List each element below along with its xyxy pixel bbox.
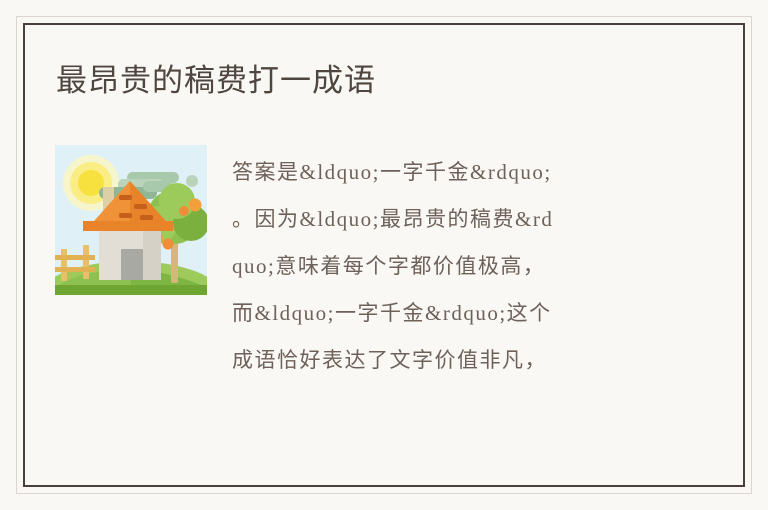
fence-rail-top: [55, 255, 95, 260]
fence-post-left: [61, 249, 67, 281]
roof-tile-2: [134, 204, 147, 209]
roof-tile-1: [119, 195, 132, 200]
answer-line: 而&ldquo;一字千金&rdquo;这个: [232, 290, 662, 337]
tree-fruit-lower: [163, 239, 174, 250]
answer-line: 成语恰好表达了文字价值非凡，: [232, 337, 662, 384]
tree-fruit-right: [179, 206, 189, 216]
page-root: 最昂贵的稿费打一成语: [0, 0, 768, 510]
answer-line: 答案是&ldquo;一字千金&rdquo;: [232, 149, 662, 196]
fence-post-right: [83, 245, 89, 279]
answer-line: 。因为&ldquo;最昂贵的稿费&rd: [232, 196, 662, 243]
house-roof-eave: [83, 221, 173, 231]
answer-line: quo;意味着每个字都价值极高，: [232, 243, 662, 290]
house-scene-illustration: [55, 145, 207, 295]
roof-tile-4: [140, 215, 153, 220]
house-door: [121, 249, 143, 280]
house-scene-svg: [55, 145, 207, 295]
roof-tile-3: [119, 213, 132, 218]
tree-canopy-top: [159, 183, 195, 219]
tree-fruit-top-right: [189, 199, 202, 212]
grass-strip: [55, 285, 207, 295]
content-area: 最昂贵的稿费打一成语: [23, 23, 745, 487]
house-wall-shade: [143, 228, 161, 280]
page-title: 最昂贵的稿费打一成语: [56, 61, 376, 101]
fence-rail-bottom: [55, 267, 95, 272]
answer-text-block: 答案是&ldquo;一字千金&rdquo; 。因为&ldquo;最昂贵的稿费&r…: [232, 149, 662, 384]
cloud-dot: [186, 175, 198, 187]
